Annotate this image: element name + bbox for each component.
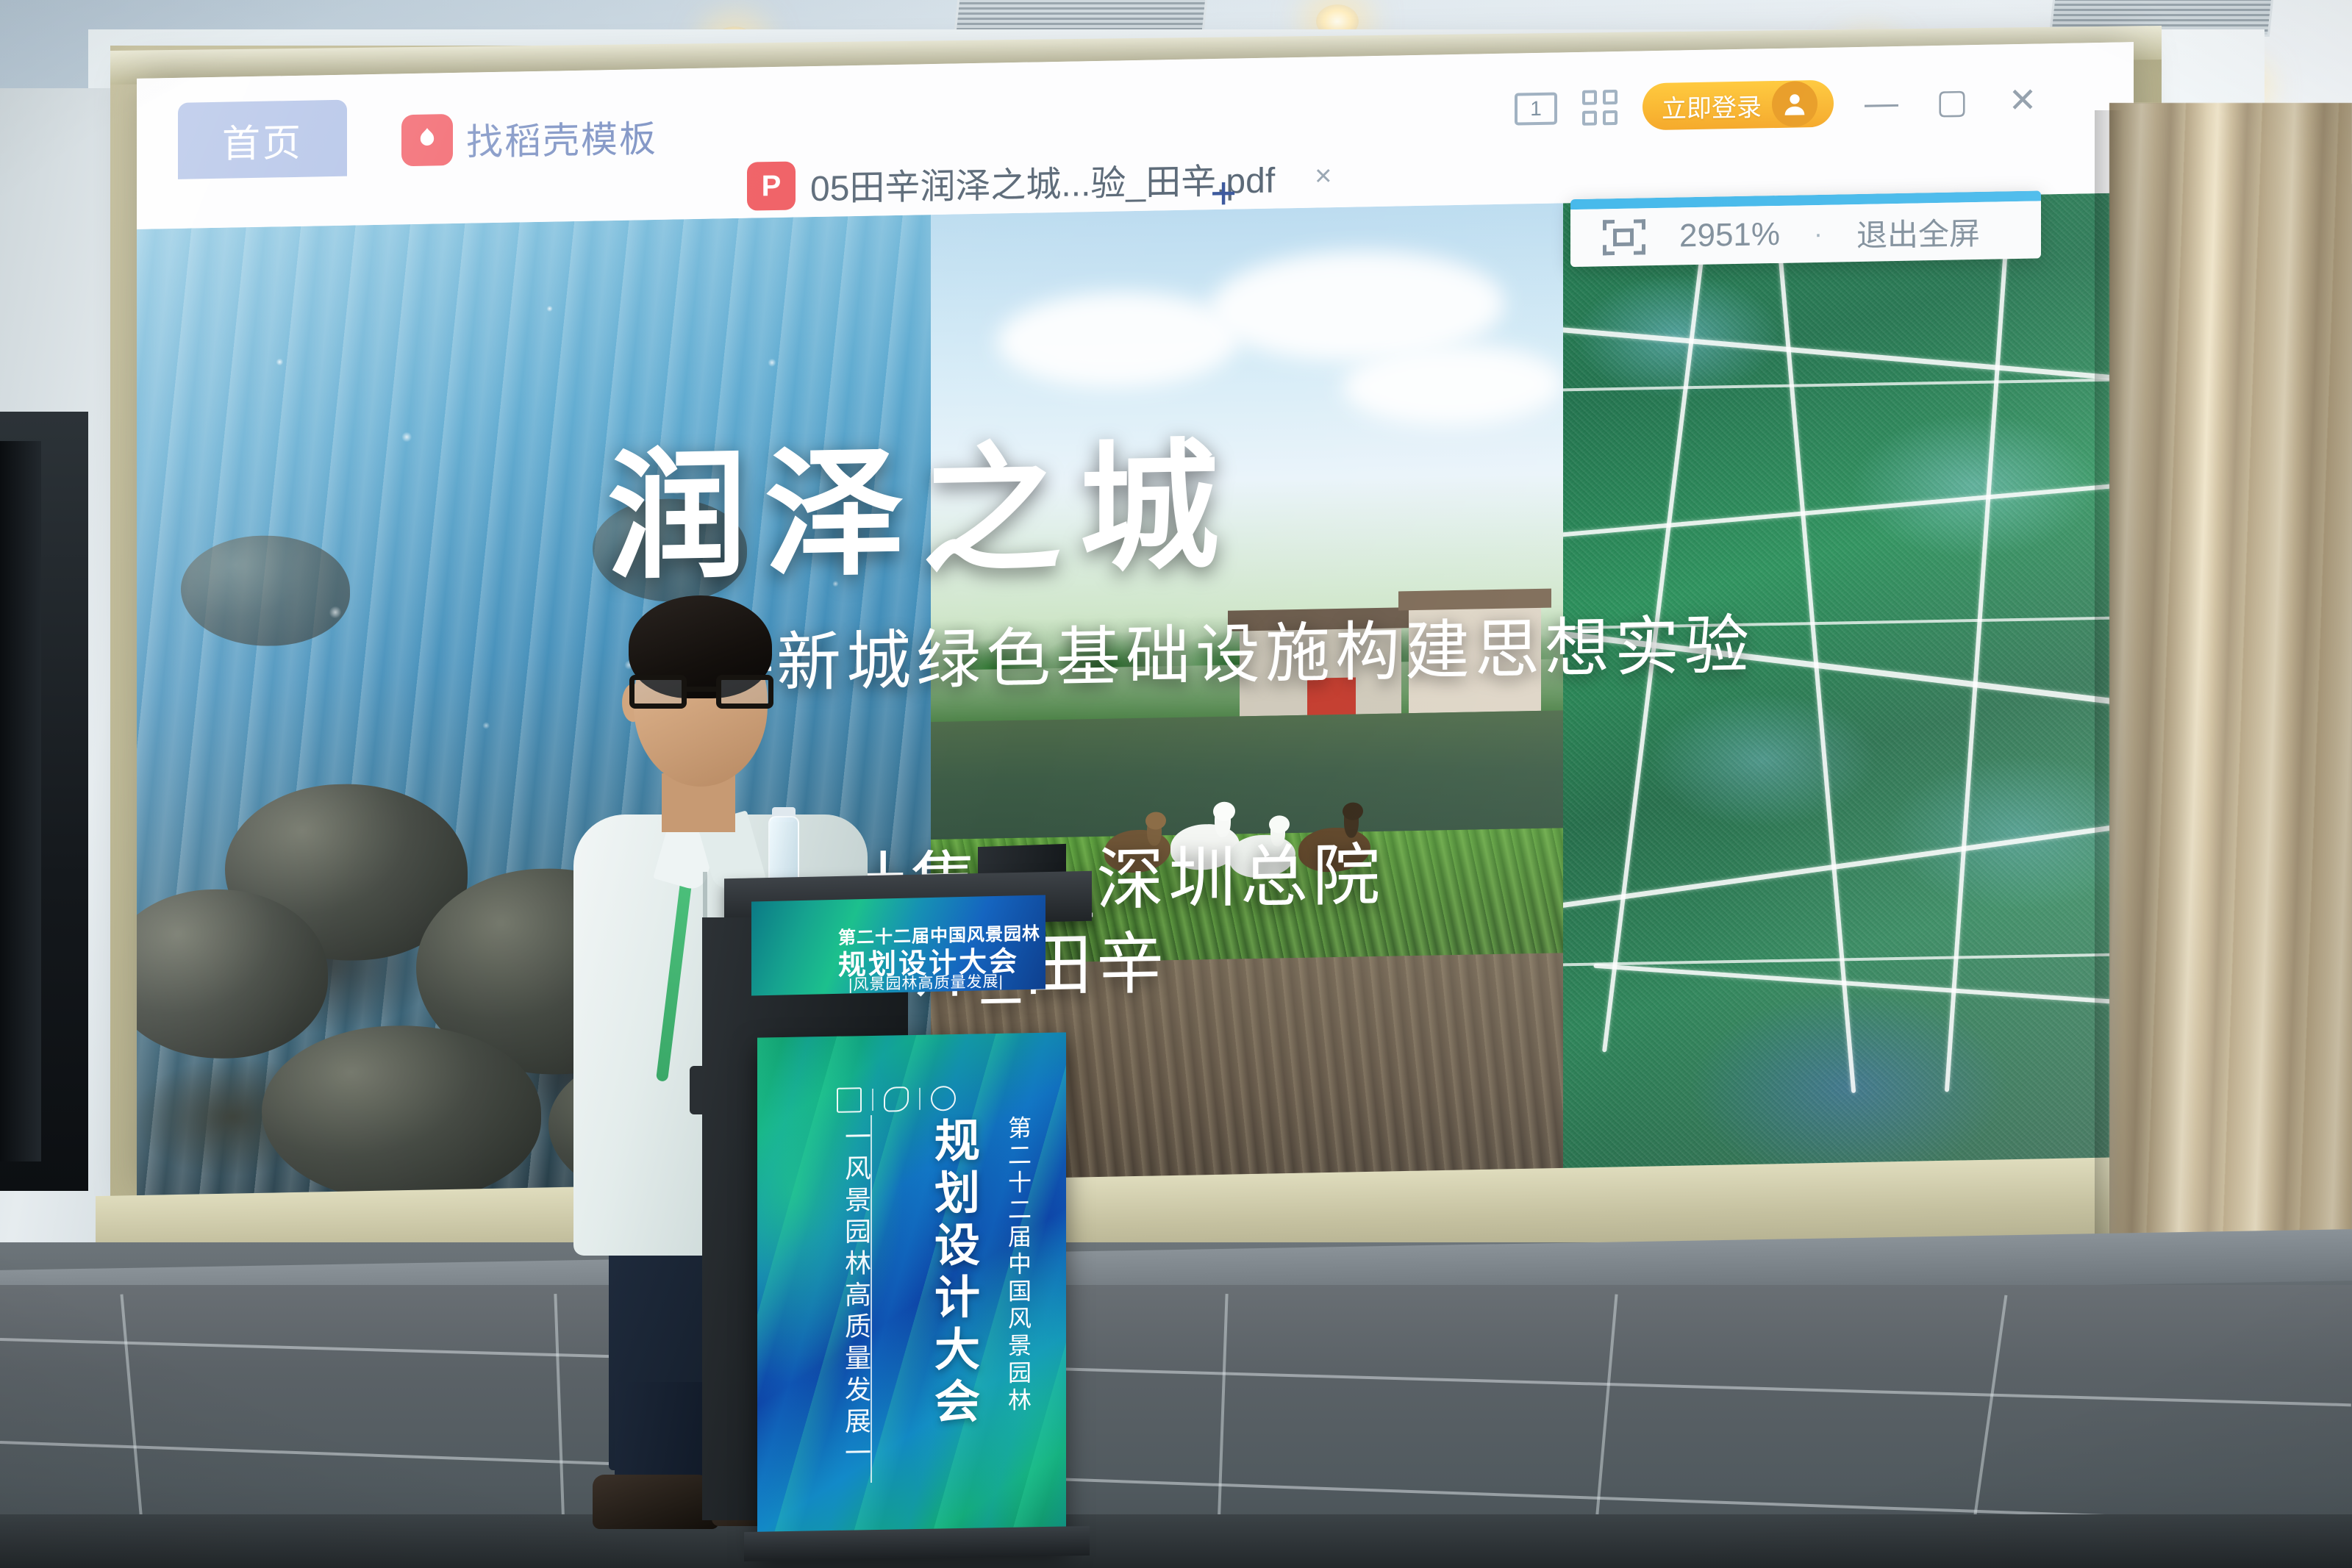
page-view-icon[interactable]: 1 (1515, 92, 1557, 125)
login-button-label: 立即登录 (1662, 87, 1762, 124)
projection-screen: 首页 找稻壳模板 P 05田辛润泽之城...验_田辛.pdf × + 1 (137, 42, 2134, 1196)
eyeglasses-icon (629, 675, 773, 709)
duck-shape (1298, 802, 1375, 874)
rock-shape (225, 782, 468, 963)
fit-page-icon[interactable] (1603, 219, 1645, 255)
banner-logo-row (837, 1086, 956, 1113)
cloud-shape (997, 290, 1240, 390)
rock-shape (181, 534, 350, 648)
house-roof-shape (1228, 607, 1412, 631)
docer-template-button[interactable]: 找稻壳模板 (401, 106, 657, 171)
screenshot-root: 首页 找稻壳模板 P 05田辛润泽之城...验_田辛.pdf × + 1 (0, 0, 2352, 1568)
duck-shape (1229, 815, 1300, 881)
stage-front-shadow (0, 1514, 2352, 1568)
logo-separator (872, 1089, 873, 1111)
zoom-level-label: 2951% (1679, 216, 1780, 255)
sun-emblem-icon (931, 1086, 956, 1111)
podium-sign: 第二十二届中国风景园林 规划设计大会 |风景园林高质量发展| (751, 895, 1045, 995)
avatar (1772, 81, 1817, 127)
presenter-shoe-left (593, 1475, 719, 1529)
docer-template-label: 找稻壳模板 (466, 110, 657, 166)
logo-separator (919, 1088, 921, 1110)
login-button[interactable]: 立即登录 (1643, 80, 1834, 131)
minimize-button[interactable]: — (1859, 82, 1904, 123)
house-shape (1409, 601, 1541, 713)
zoom-toolbar[interactable]: 2951% · 退出全屏 (1570, 190, 2041, 267)
pdf-file-icon: P (747, 161, 796, 210)
curtain-edge-shadow (2095, 110, 2124, 1353)
page-indicator-label: 1 (1530, 97, 1542, 121)
left-wall-dark-edge (0, 441, 41, 1161)
toolbar-separator: · (1814, 218, 1823, 249)
exit-fullscreen-button[interactable]: 退出全屏 (1856, 208, 1980, 255)
chslmpa-flower-icon (884, 1086, 909, 1112)
slide-panel-aerial-masterplan (1563, 193, 2134, 1170)
pdf-file-icon-glyph: P (762, 169, 782, 202)
banner-subtitle: 第二十二届中国风景园林 (1001, 1115, 1035, 1415)
conference-banner: 第二十二届中国风景园林 规划设计大会 一风景园林高质量发展一 (757, 1032, 1066, 1552)
tab-home[interactable]: 首页 (178, 100, 347, 179)
window-titlebar-controls: 1 立即登录 — ▢ ✕ (1515, 76, 2045, 132)
close-window-button[interactable]: ✕ (2000, 79, 2045, 120)
tab-home-label: 首页 (222, 111, 303, 168)
house-roof-shape (1398, 589, 1551, 611)
rock-shape (137, 887, 328, 1060)
pdf-slide-canvas: 润泽之城 ——新城绿色基础设施构建思想实验 岭南设计集团_深圳总院 首席设计师_… (137, 193, 2134, 1196)
tab-pdf-label: 05田辛润泽之城...验_田辛.pdf (810, 151, 1275, 212)
maximize-button[interactable]: ▢ (1929, 81, 1975, 121)
rock-shape (262, 1023, 541, 1196)
curtain-shading (2109, 103, 2352, 1353)
docer-logo-icon (401, 114, 453, 166)
cnca-emblem-icon (837, 1087, 862, 1113)
grid-view-icon[interactable] (1582, 90, 1618, 126)
banner-sidetext: 一风景园林高质量发展一 (837, 1123, 875, 1471)
close-icon[interactable]: × (1315, 160, 1332, 193)
duck-shape (1104, 812, 1175, 876)
banner-base (744, 1526, 1090, 1561)
banner-title: 规划设计大会 (919, 1116, 985, 1431)
